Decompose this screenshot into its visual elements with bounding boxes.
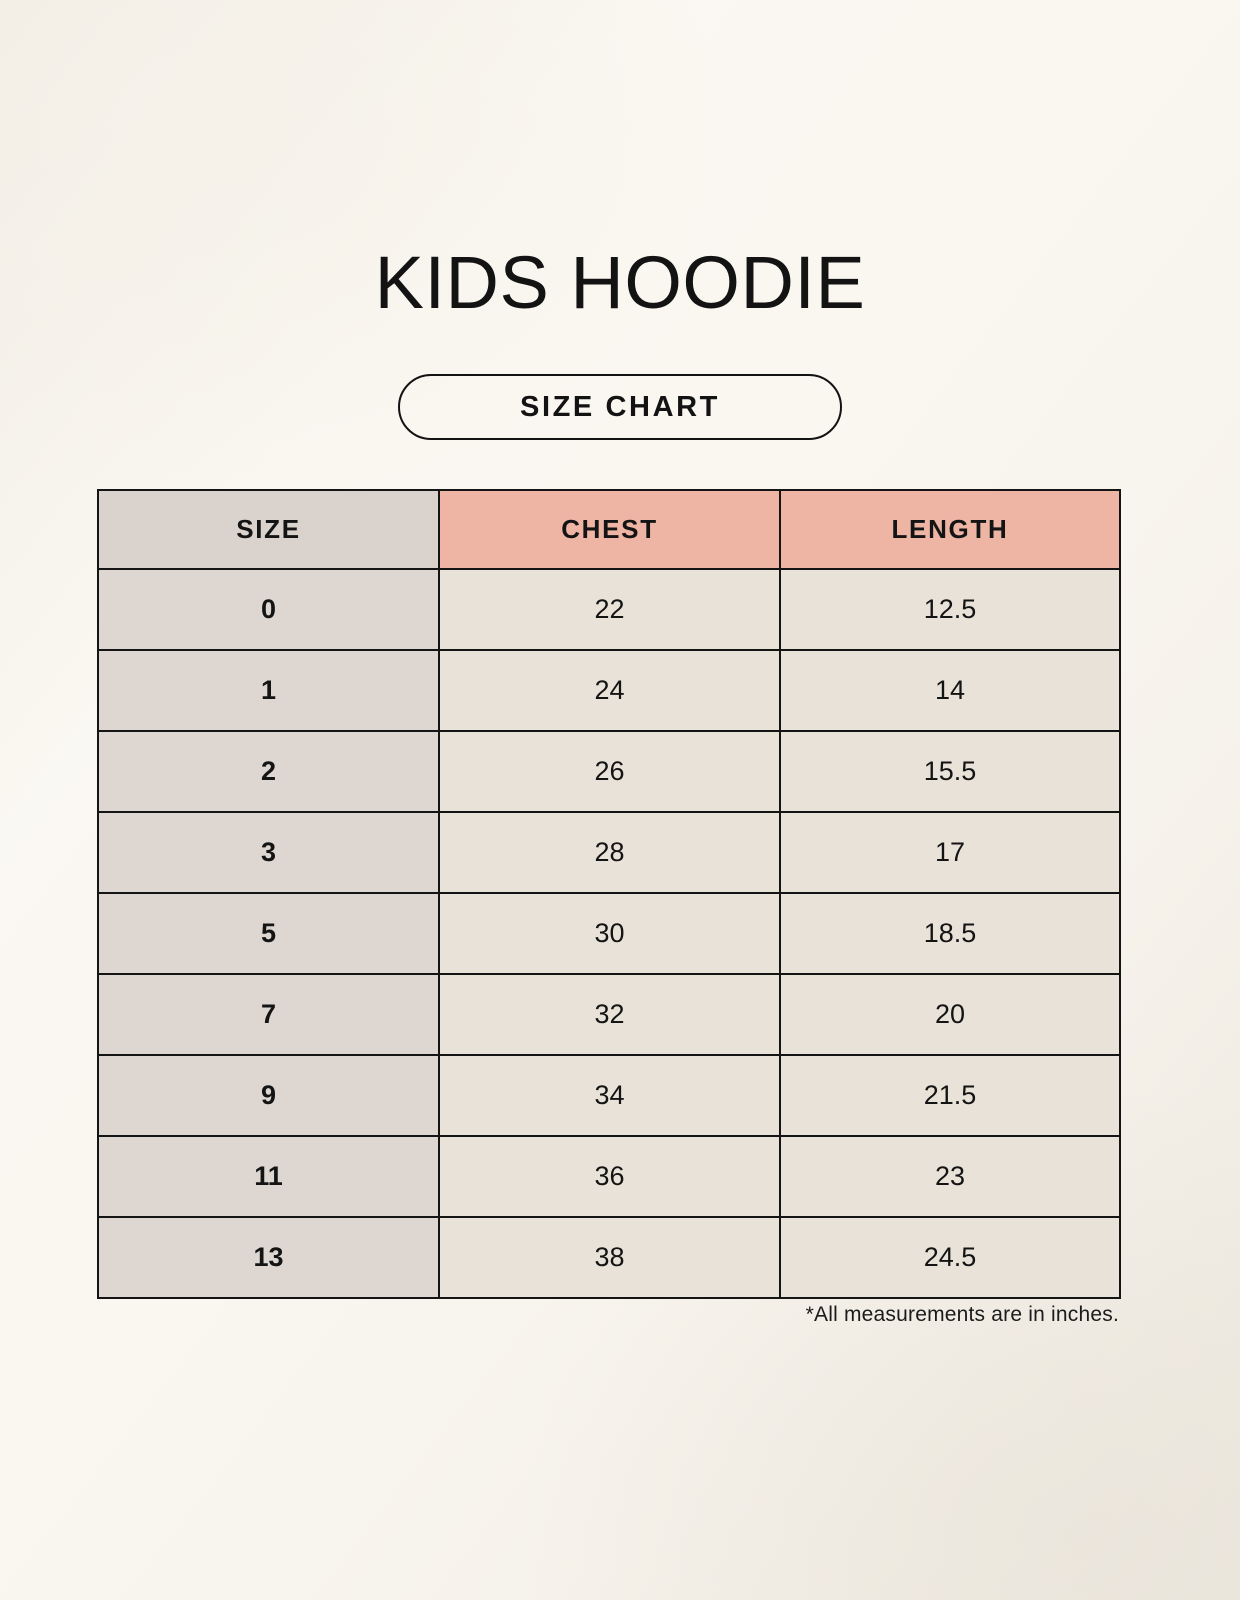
cell-size: 0	[98, 569, 439, 650]
table-row: 73220	[98, 974, 1120, 1055]
cell-length: 20	[780, 974, 1120, 1055]
table-row: 22615.5	[98, 731, 1120, 812]
size-chart-table: SIZE CHEST LENGTH 02212.51241422615.5328…	[97, 489, 1121, 1299]
cell-chest: 36	[439, 1136, 780, 1217]
cell-length: 14	[780, 650, 1120, 731]
cell-chest: 38	[439, 1217, 780, 1298]
table-row: 113623	[98, 1136, 1120, 1217]
cell-size: 13	[98, 1217, 439, 1298]
table-header-row: SIZE CHEST LENGTH	[98, 490, 1120, 569]
table-header: SIZE CHEST LENGTH	[98, 490, 1120, 569]
cell-size: 5	[98, 893, 439, 974]
cell-chest: 26	[439, 731, 780, 812]
cell-length: 21.5	[780, 1055, 1120, 1136]
cell-size: 1	[98, 650, 439, 731]
column-header-length: LENGTH	[780, 490, 1120, 569]
cell-size: 7	[98, 974, 439, 1055]
column-header-size: SIZE	[98, 490, 439, 569]
measurement-unit-footnote: *All measurements are in inches.	[806, 1303, 1119, 1327]
cell-chest: 32	[439, 974, 780, 1055]
cell-size: 11	[98, 1136, 439, 1217]
cell-length: 15.5	[780, 731, 1120, 812]
column-header-chest: CHEST	[439, 490, 780, 569]
cell-length: 23	[780, 1136, 1120, 1217]
size-chart-page: KIDS HOODIE SIZE CHART SIZE CHEST LENGTH…	[0, 0, 1240, 1600]
table-row: 53018.5	[98, 893, 1120, 974]
table-row: 02212.5	[98, 569, 1120, 650]
cell-chest: 30	[439, 893, 780, 974]
table-row: 93421.5	[98, 1055, 1120, 1136]
size-chart-table-container: SIZE CHEST LENGTH 02212.51241422615.5328…	[97, 489, 1119, 1299]
table-row: 133824.5	[98, 1217, 1120, 1298]
cell-length: 24.5	[780, 1217, 1120, 1298]
cell-size: 2	[98, 731, 439, 812]
cell-length: 12.5	[780, 569, 1120, 650]
cell-size: 9	[98, 1055, 439, 1136]
page-title: KIDS HOODIE	[0, 246, 1240, 320]
table-body: 02212.51241422615.53281753018.5732209342…	[98, 569, 1120, 1298]
table-row: 12414	[98, 650, 1120, 731]
size-chart-badge-label: SIZE CHART	[520, 391, 720, 424]
cell-chest: 28	[439, 812, 780, 893]
size-chart-badge: SIZE CHART	[398, 374, 842, 440]
cell-chest: 34	[439, 1055, 780, 1136]
cell-size: 3	[98, 812, 439, 893]
cell-chest: 24	[439, 650, 780, 731]
table-row: 32817	[98, 812, 1120, 893]
cell-length: 18.5	[780, 893, 1120, 974]
cell-chest: 22	[439, 569, 780, 650]
cell-length: 17	[780, 812, 1120, 893]
